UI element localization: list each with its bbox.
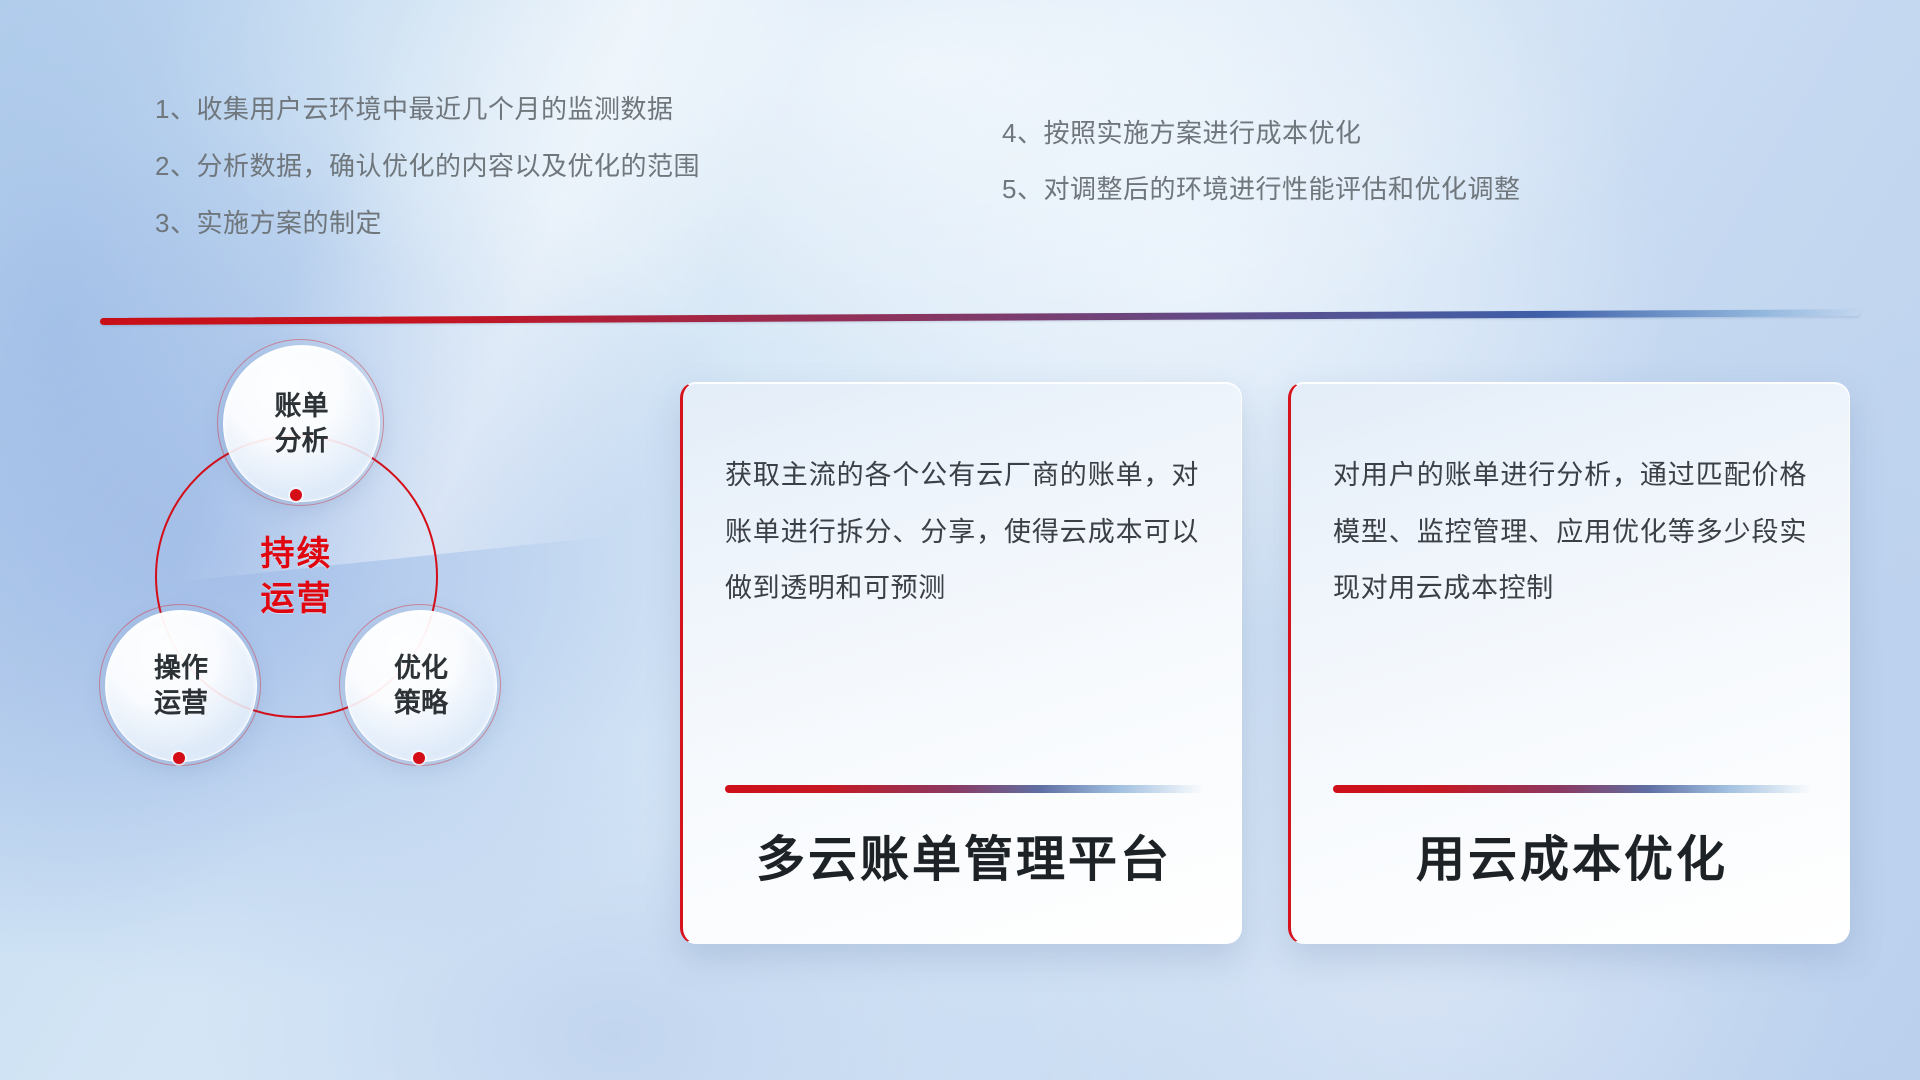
venn-node-optimization-strategy-line-1: 优化	[394, 651, 448, 686]
venn-connector-dot-bottom-right	[413, 752, 425, 764]
step-item-4: 4、按照实施方案进行成本优化	[1002, 120, 1520, 146]
venn-node-billing-analysis-line-1: 账单	[275, 389, 329, 424]
card-cloud-cost-optimization[interactable]: 对用户的账单进行分析，通过匹配价格模型、监控管理、应用优化等多少段实现对用云成本…	[1288, 382, 1850, 944]
venn-node-billing-analysis-line-2: 分析	[275, 424, 329, 459]
venn-node-billing-analysis[interactable]: 账单 分析	[223, 345, 380, 502]
venn-node-optimization-strategy-line-2: 策略	[394, 686, 448, 721]
steps-left-column: 1、收集用户云环境中最近几个月的监测数据 2、分析数据，确认优化的内容以及优化的…	[155, 96, 700, 267]
step-item-5: 5、对调整后的环境进行性能评估和优化调整	[1002, 176, 1520, 202]
card-accent-rule	[725, 785, 1203, 793]
venn-connector-dot-top	[290, 489, 302, 501]
venn-node-operations-line-2: 运营	[154, 686, 208, 721]
card-multi-cloud-billing-platform[interactable]: 获取主流的各个公有云厂商的账单，对账单进行拆分、分享，使得云成本可以做到透明和可…	[680, 382, 1242, 944]
venn-node-optimization-strategy[interactable]: 优化 策略	[345, 610, 497, 762]
venn-node-operations[interactable]: 操作 运营	[105, 610, 257, 762]
card-body-text: 获取主流的各个公有云厂商的账单，对账单进行拆分、分享，使得云成本可以做到透明和可…	[725, 447, 1199, 617]
card-body-text: 对用户的账单进行分析，通过匹配价格模型、监控管理、应用优化等多少段实现对用云成本…	[1333, 447, 1807, 617]
step-item-3: 3、实施方案的制定	[155, 210, 700, 236]
venn-connector-dot-bottom-left	[173, 752, 185, 764]
steps-right-column: 4、按照实施方案进行成本优化 5、对调整后的环境进行性能评估和优化调整	[1002, 120, 1520, 232]
step-item-2: 2、分析数据，确认优化的内容以及优化的范围	[155, 153, 700, 179]
steps-section: 1、收集用户云环境中最近几个月的监测数据 2、分析数据，确认优化的内容以及优化的…	[0, 0, 1920, 260]
venn-diagram: 持续 运营 账单 分析 操作 运营 优化 策略	[95, 355, 575, 955]
venn-node-operations-line-1: 操作	[154, 651, 208, 686]
card-accent-rule	[1333, 785, 1811, 793]
card-title: 多云账单管理平台	[725, 820, 1203, 891]
card-title: 用云成本优化	[1333, 820, 1811, 891]
step-item-1: 1、收集用户云环境中最近几个月的监测数据	[155, 96, 700, 122]
